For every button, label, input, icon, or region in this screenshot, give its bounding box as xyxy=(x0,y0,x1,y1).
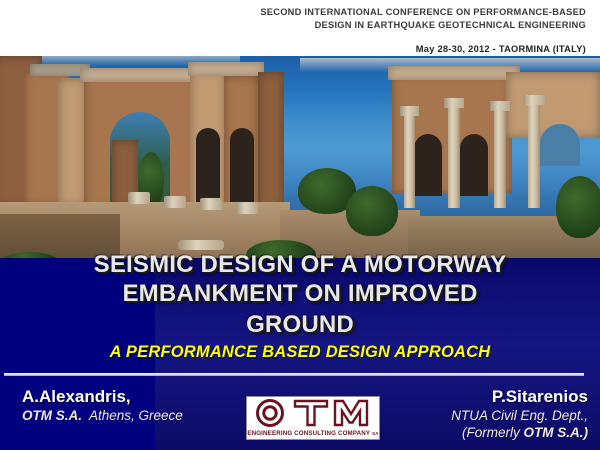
arch-opening xyxy=(540,124,580,166)
horizontal-divider xyxy=(4,373,584,376)
author-right-affiliation-line-1: NTUA Civil Eng. Dept., xyxy=(358,407,588,424)
stone-drum xyxy=(128,192,150,204)
ruin-cornice xyxy=(388,66,520,80)
conference-title-slide: SECOND INTERNATIONAL CONFERENCE ON PERFO… xyxy=(0,0,600,450)
column xyxy=(448,104,460,208)
logo-letter-m-icon xyxy=(335,401,367,425)
logo-letter-o-outer-icon xyxy=(258,401,283,426)
presentation-title-block: SEISMIC DESIGN OF A MOTORWAY EMBANKMENT … xyxy=(0,250,600,362)
tree xyxy=(556,176,600,238)
column-capital xyxy=(444,98,464,108)
logo-letter-o-inner-icon xyxy=(264,407,276,419)
author-right: P.Sitarenios NTUA Civil Eng. Dept., (For… xyxy=(358,386,588,441)
niche-opening xyxy=(414,134,442,196)
otm-letters-graphic xyxy=(247,398,379,428)
niche-opening xyxy=(230,128,254,210)
ruin-block xyxy=(258,72,284,210)
fallen-column xyxy=(178,240,224,250)
ruin-arch-top xyxy=(80,68,200,82)
conference-title-line-1: SECOND INTERNATIONAL CONFERENCE ON PERFO… xyxy=(0,0,586,19)
column-capital xyxy=(400,106,419,116)
column-capital xyxy=(490,101,510,111)
author-left-company: OTM S.A. xyxy=(22,408,82,423)
ruin-block xyxy=(58,78,86,206)
conference-date-location: May 28-30, 2012 - TAORMINA (ITALY) xyxy=(0,44,586,54)
column xyxy=(494,108,506,208)
tree xyxy=(346,186,398,236)
column-capital xyxy=(523,95,545,105)
author-left-name: A.Alexandris, xyxy=(22,386,237,407)
title-line-2: EMBANKMENT ON IMPROVED xyxy=(0,279,600,308)
stone-drum xyxy=(200,198,222,210)
stone-drum xyxy=(164,196,186,208)
author-right-company: OTM S.A.) xyxy=(524,425,589,440)
title-line-3: GROUND xyxy=(0,308,600,341)
otm-company-logo: ENGINEERING CONSULTING COMPANY SA xyxy=(246,396,380,440)
logo-letter-t-icon xyxy=(295,401,327,425)
author-left: A.Alexandris, OTM S.A. Athens, Greece xyxy=(22,386,237,424)
otm-logo-tagline: ENGINEERING CONSULTING COMPANY SA xyxy=(247,430,379,437)
author-right-former-prefix: (Formerly xyxy=(462,425,524,440)
ruin-cornice xyxy=(188,62,264,76)
otm-tagline-suffix: SA xyxy=(372,431,379,436)
stone-drum xyxy=(236,202,258,214)
presentation-subtitle: A PERFORMANCE BASED DESIGN APPROACH xyxy=(0,343,600,362)
author-right-name: P.Sitarenios xyxy=(358,386,588,407)
author-left-affiliation: OTM S.A. Athens, Greece xyxy=(22,407,237,424)
conference-header: SECOND INTERNATIONAL CONFERENCE ON PERFO… xyxy=(0,0,600,56)
otm-tagline-text: ENGINEERING CONSULTING COMPANY xyxy=(247,430,370,437)
author-right-affiliation-line-2: (Formerly OTM S.A.) xyxy=(358,424,588,441)
column xyxy=(528,102,540,208)
taormina-theatre-photo xyxy=(0,56,600,268)
column xyxy=(404,112,415,208)
niche-opening xyxy=(460,134,488,196)
conference-title-line-2: DESIGN IN EARTHQUAKE GEOTECHNICAL ENGINE… xyxy=(0,19,586,32)
author-left-location: Athens, Greece xyxy=(89,408,183,423)
title-line-1: SEISMIC DESIGN OF A MOTORWAY xyxy=(0,250,600,279)
